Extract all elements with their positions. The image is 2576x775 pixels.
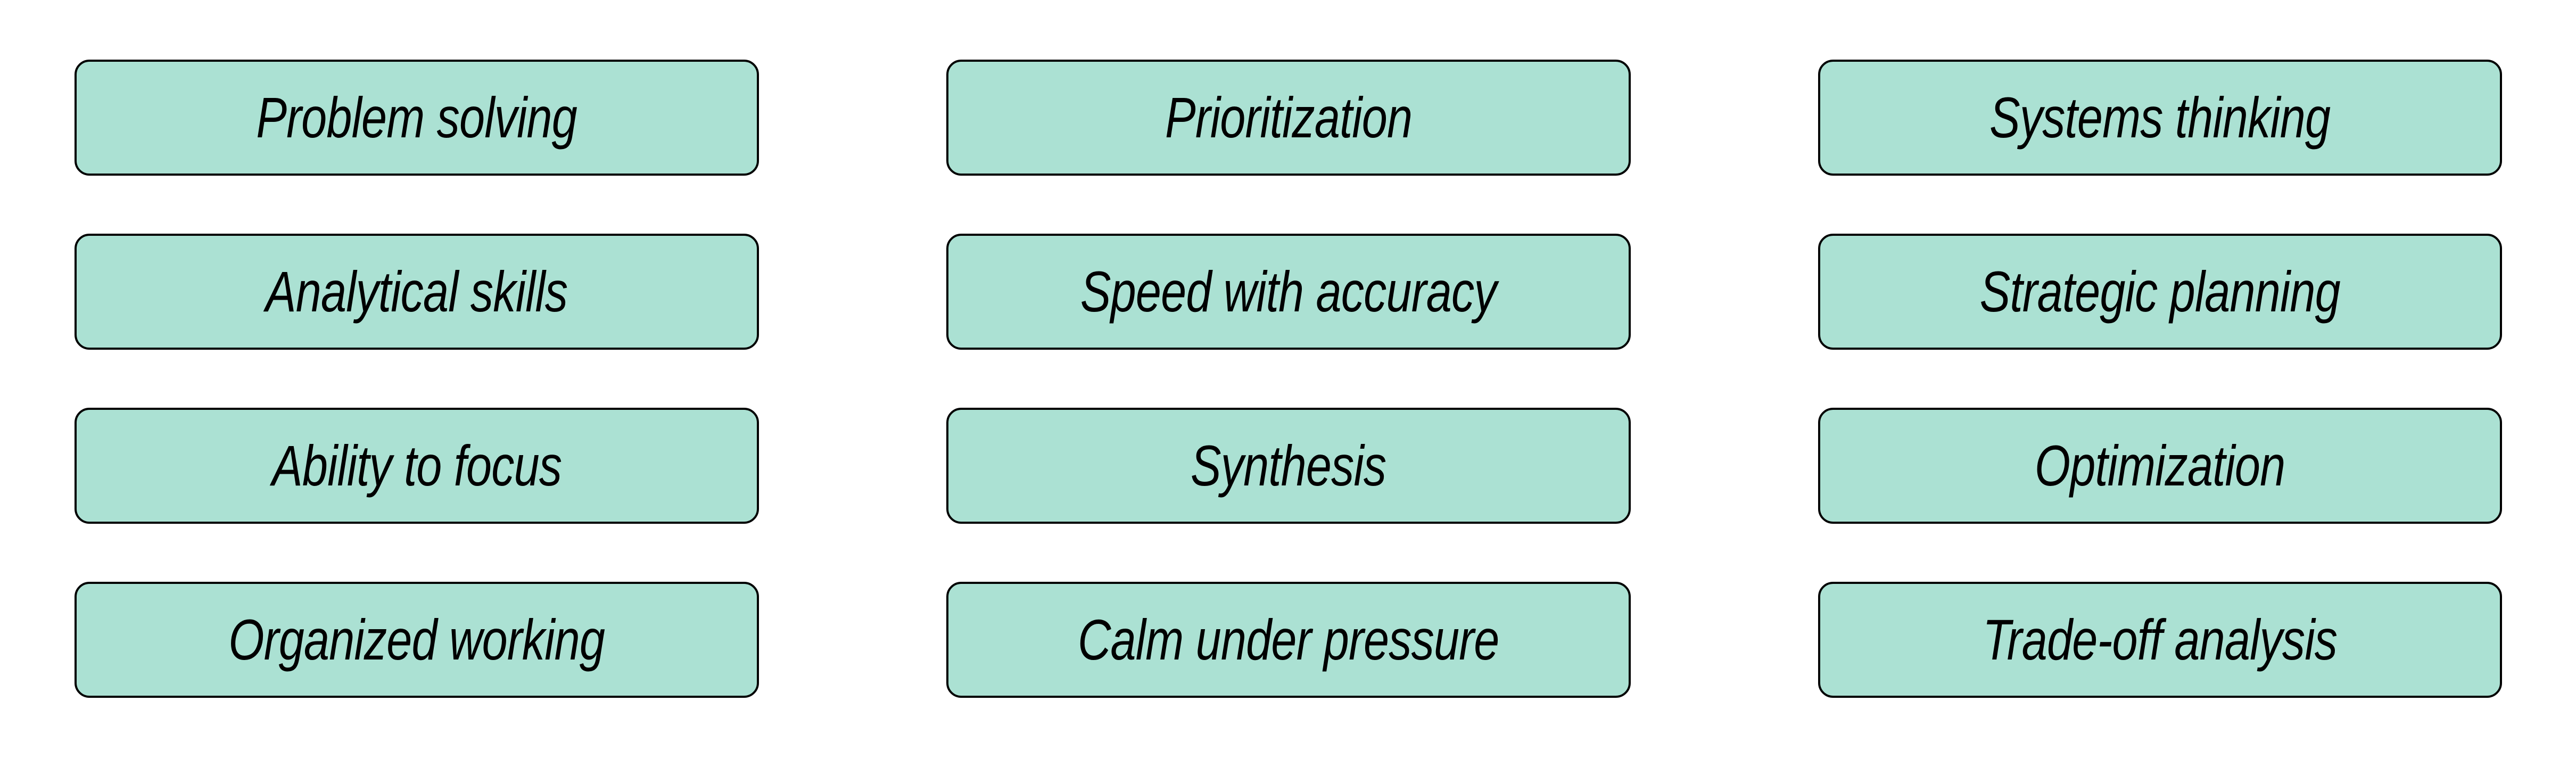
skill-box-label: Analytical skills: [266, 263, 567, 320]
skill-box-calm-under-pressure[interactable]: Calm under pressure: [946, 582, 1631, 698]
skill-box-systems-thinking[interactable]: Systems thinking: [1818, 60, 2502, 176]
skill-box-label: Calm under pressure: [1078, 611, 1499, 669]
skill-box-label: Systems thinking: [1989, 89, 2330, 146]
diagram-canvas: Problem solving Prioritization Systems t…: [0, 0, 2576, 775]
skill-box-label: Trade-off analysis: [1983, 611, 2338, 669]
skill-box-speed-with-accuracy[interactable]: Speed with accuracy: [946, 234, 1631, 350]
skill-box-ability-to-focus[interactable]: Ability to focus: [75, 408, 759, 524]
skill-box-label: Prioritization: [1165, 89, 1412, 146]
skill-box-label: Optimization: [2035, 437, 2285, 494]
skill-box-optimization[interactable]: Optimization: [1818, 408, 2502, 524]
skill-box-analytical-skills[interactable]: Analytical skills: [75, 234, 759, 350]
skill-box-label: Ability to focus: [272, 437, 562, 494]
skill-box-strategic-planning[interactable]: Strategic planning: [1818, 234, 2502, 350]
skill-box-label: Speed with accuracy: [1080, 263, 1497, 320]
skill-box-label: Synthesis: [1191, 437, 1386, 494]
skill-box-trade-off-analysis[interactable]: Trade-off analysis: [1818, 582, 2502, 698]
skill-box-problem-solving[interactable]: Problem solving: [75, 60, 759, 176]
skill-box-prioritization[interactable]: Prioritization: [946, 60, 1631, 176]
skill-box-synthesis[interactable]: Synthesis: [946, 408, 1631, 524]
skill-box-grid: Problem solving Prioritization Systems t…: [75, 60, 2501, 697]
skill-box-label: Problem solving: [257, 89, 577, 146]
skill-box-label: Strategic planning: [1980, 263, 2340, 320]
skill-box-organized-working[interactable]: Organized working: [75, 582, 759, 698]
skill-box-label: Organized working: [229, 611, 605, 669]
